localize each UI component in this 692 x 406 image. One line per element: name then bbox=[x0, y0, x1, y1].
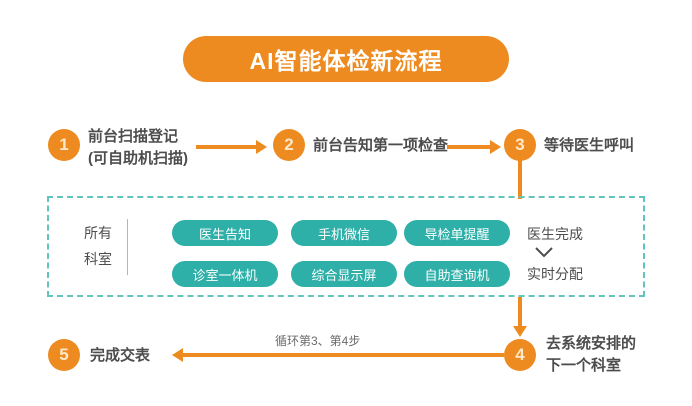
step-label-4: 去系统安排的 下一个科室 bbox=[546, 333, 636, 377]
chevron-down-icon bbox=[534, 246, 554, 258]
step-label-2-line1: 前台告知第一项检查 bbox=[313, 135, 448, 157]
step-label-3-line1: 等待医生呼叫 bbox=[544, 135, 634, 157]
department-divider bbox=[127, 219, 128, 275]
diagram-title-text: AI智能体检新流程 bbox=[250, 42, 443, 76]
connector-step3-to-department-box bbox=[518, 159, 522, 199]
diagram-title-pill: AI智能体检新流程 bbox=[183, 36, 509, 82]
department-side-label: 所有 科室 bbox=[84, 220, 124, 272]
step-label-1: 前台扫描登记 (可自助机扫描) bbox=[88, 126, 188, 170]
arrow-step1-to-step2 bbox=[196, 145, 258, 149]
step-label-5: 完成交表 bbox=[90, 345, 150, 367]
department-side-label-line2: 科室 bbox=[84, 246, 124, 272]
channel-pill-wechat[interactable]: 手机微信 bbox=[291, 220, 397, 246]
status-note-doctor-done: 医生完成 bbox=[527, 224, 583, 244]
step-label-3: 等待医生呼叫 bbox=[544, 135, 634, 157]
cycle-caption: 循环第3、第4步 bbox=[275, 332, 360, 349]
step-circle-1[interactable]: 1 bbox=[48, 129, 80, 161]
channel-pill-guide-sheet-reminder[interactable]: 导检单提醒 bbox=[404, 220, 510, 246]
channel-pill-clinic-all-in-one[interactable]: 诊室一体机 bbox=[172, 261, 278, 287]
step-label-4-line1: 去系统安排的 bbox=[546, 333, 636, 355]
step-label-2: 前台告知第一项检查 bbox=[313, 135, 448, 157]
step-circle-4[interactable]: 4 bbox=[504, 339, 536, 371]
status-note-realtime-assign: 实时分配 bbox=[527, 264, 583, 284]
step-circle-3[interactable]: 3 bbox=[504, 129, 536, 161]
channel-pill-self-service-kiosk[interactable]: 自助查询机 bbox=[404, 261, 510, 287]
step-circle-2[interactable]: 2 bbox=[273, 129, 305, 161]
step-label-1-line2: (可自助机扫描) bbox=[88, 148, 188, 170]
arrow-step4-to-step5 bbox=[181, 353, 504, 357]
step-label-5-line1: 完成交表 bbox=[90, 345, 150, 367]
channel-pill-doctor-notify[interactable]: 医生告知 bbox=[172, 220, 278, 246]
connector-department-box-to-step4 bbox=[518, 297, 522, 327]
arrow-step2-to-step3 bbox=[447, 145, 492, 149]
step-circle-5[interactable]: 5 bbox=[48, 339, 80, 371]
step-label-1-line1: 前台扫描登记 bbox=[88, 126, 188, 148]
department-side-label-line1: 所有 bbox=[84, 220, 124, 246]
channel-pill-display-screen[interactable]: 综合显示屏 bbox=[291, 261, 397, 287]
step-label-4-line2: 下一个科室 bbox=[546, 355, 636, 377]
